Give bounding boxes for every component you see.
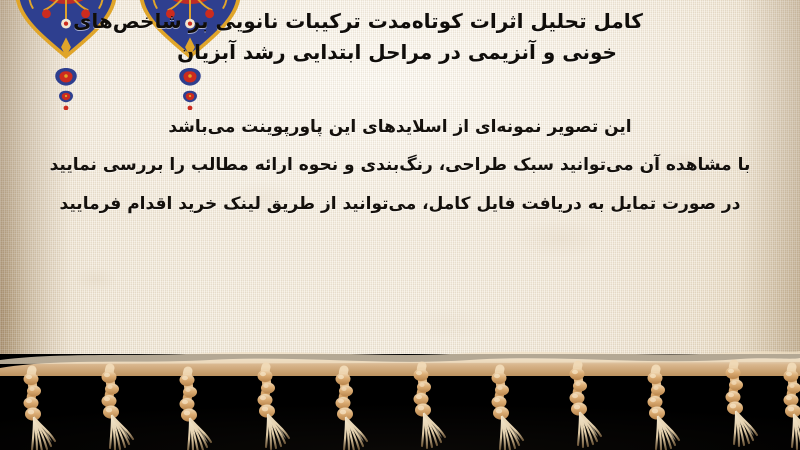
body-line-1: این تصویر نمونه‌ای از اسلایدهای این پاور… bbox=[20, 108, 780, 146]
body-line-2: با مشاهده آن می‌توانید سبک طراحی، رنگ‌بن… bbox=[20, 146, 780, 184]
slide-canvas: کامل تحلیل اثرات کوتاه‌مدت ترکیبات نانوی… bbox=[0, 0, 800, 450]
slide-title: کامل تحلیل اثرات کوتاه‌مدت ترکیبات نانوی… bbox=[0, 6, 800, 68]
slide-body: این تصویر نمونه‌ای از اسلایدهای این پاور… bbox=[0, 108, 800, 223]
body-line-3: در صورت تمایل به دریافت فایل کامل، می‌تو… bbox=[20, 185, 780, 223]
title-line-2: خونی و آنزیمی در مراحل ابتدایی رشد آبزیا… bbox=[12, 37, 782, 68]
title-line-1: کامل تحلیل اثرات کوتاه‌مدت ترکیبات نانوی… bbox=[12, 6, 782, 37]
knotted-carpet-fringe-tassels bbox=[0, 340, 800, 450]
